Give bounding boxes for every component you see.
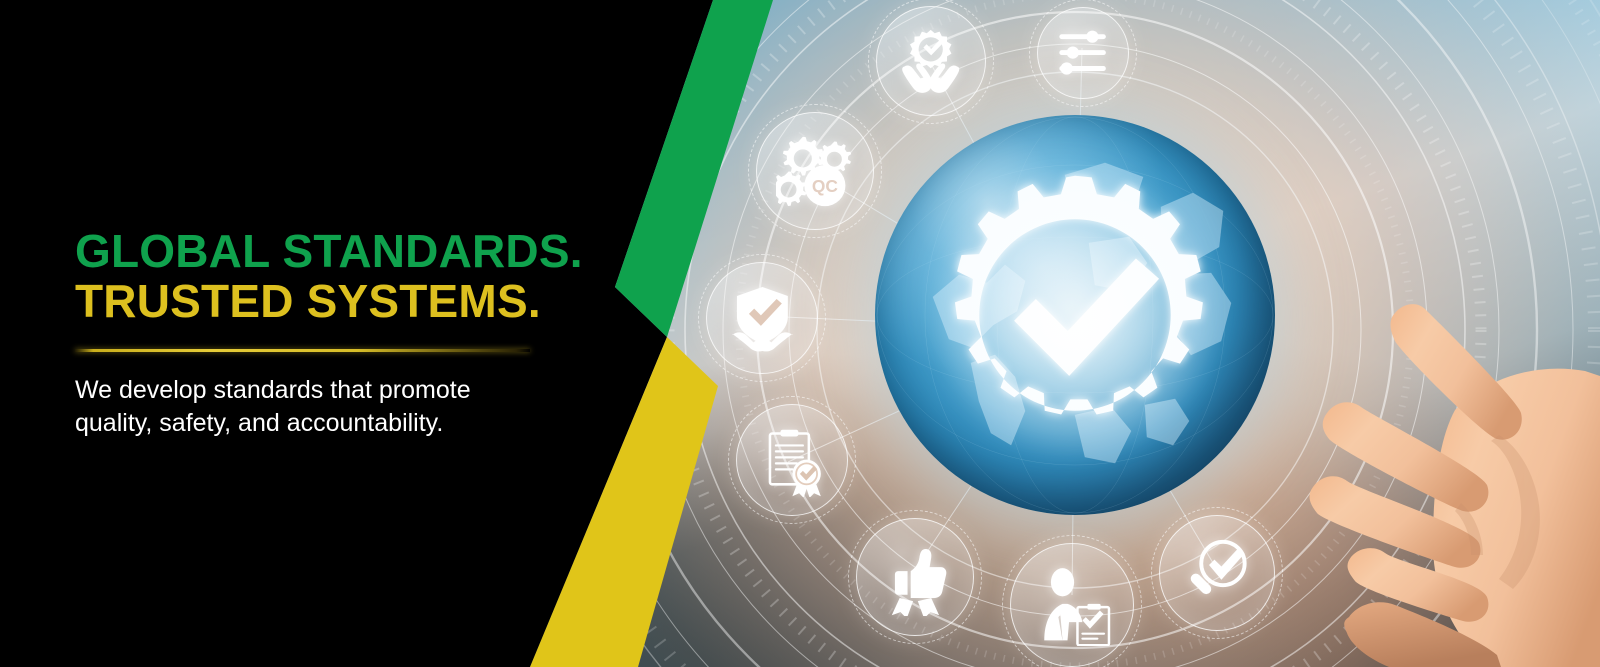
headline-line-1: GLOBAL STANDARDS. [75,225,583,277]
subheading-line-2: quality, safety, and accountability. [75,407,555,440]
gold-divider-rule [75,349,530,352]
text-panel: GLOBAL STANDARDS. TRUSTED SYSTEMS. We de… [75,0,595,667]
subheading: We develop standards that promote qualit… [75,374,555,440]
hero-banner: QC [0,0,1600,667]
headline-line-2: TRUSTED SYSTEMS. [75,275,541,327]
subheading-line-1: We develop standards that promote [75,374,555,407]
page-title: GLOBAL STANDARDS. TRUSTED SYSTEMS. [75,227,595,326]
